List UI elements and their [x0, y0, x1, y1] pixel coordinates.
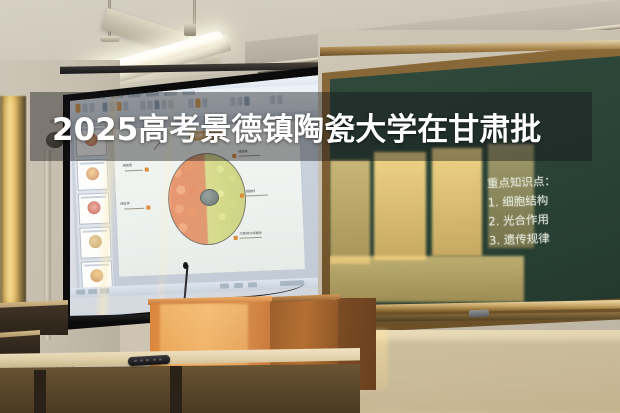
sunlight-patch — [374, 152, 426, 260]
label-text-4: 细胞质 — [122, 162, 132, 167]
label-line-4 — [125, 170, 143, 172]
status-chip[interactable] — [88, 289, 97, 294]
label-line-3 — [240, 237, 262, 239]
label-tag-5 — [146, 205, 150, 209]
sunlight-patch — [432, 148, 482, 256]
chalk-eraser-icon[interactable] — [469, 309, 489, 317]
desk-leg — [34, 370, 46, 413]
light-ceiling-canopy — [100, 36, 120, 42]
status-chip[interactable] — [76, 289, 85, 294]
sunlight-patch — [330, 160, 370, 264]
label-tag-3 — [234, 236, 238, 240]
light-suspension-rod-2 — [193, 0, 196, 26]
cell-diagram — [166, 152, 246, 245]
desk-leg — [170, 366, 182, 413]
microphone-icon — [183, 262, 188, 269]
classroom-photo: 细胞的结构 细胞膜 细胞核 内质网与核糖体 细胞质 — [0, 0, 620, 413]
status-chip[interactable] — [100, 288, 109, 293]
overlay-headline: 2025高考景德镇陶瓷大学在甘肃批 — [30, 92, 592, 161]
light-end-cap — [184, 24, 196, 36]
label-text-2: 细胞核 — [246, 188, 256, 193]
label-tag-4 — [145, 167, 149, 171]
curtain-sunlight-glow — [2, 100, 18, 300]
label-text-5: 线粒体 — [120, 200, 130, 205]
label-line-2 — [246, 195, 268, 197]
label-tag-2 — [240, 194, 244, 198]
sunlight-patch — [330, 256, 524, 302]
chalkboard-notes: 重点知识点： 1. 细胞结构 2. 光合作用 3. 遗传规律 — [487, 170, 620, 251]
label-text-3: 内质网与核糖体 — [239, 230, 262, 236]
slide-thumbnail[interactable] — [79, 227, 111, 259]
label-line-5 — [124, 208, 144, 210]
slide-thumbnail[interactable] — [78, 193, 110, 225]
slide-thumbnail[interactable] — [77, 159, 109, 191]
